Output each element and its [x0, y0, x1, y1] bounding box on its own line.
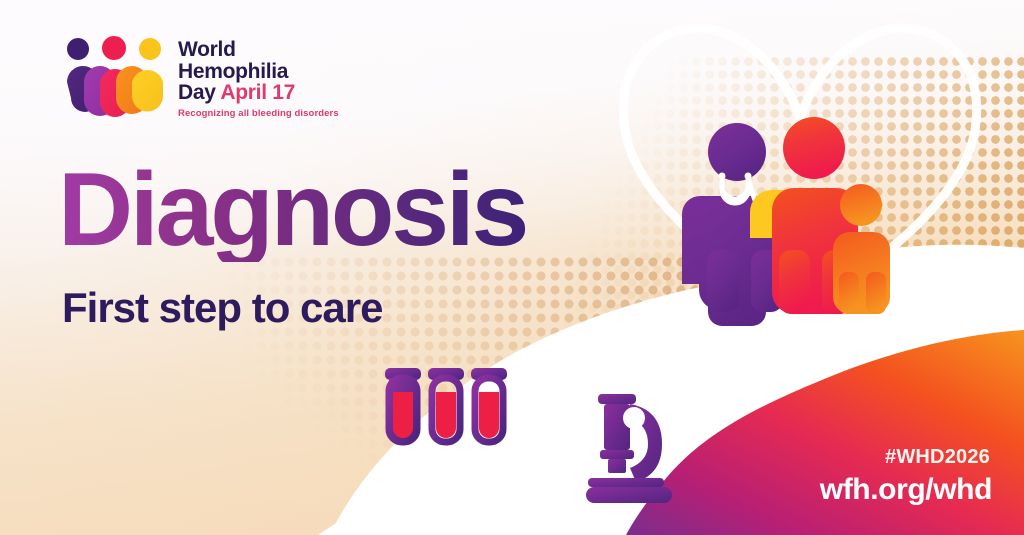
website-url[interactable]: wfh.org/whd — [820, 473, 992, 507]
whd-poster: World Hemophilia Day April 17 Recognizin… — [0, 0, 1024, 535]
hashtag-label: #WHD2026 — [885, 446, 990, 469]
logo-day-word: Day — [178, 81, 216, 104]
wfh-logo[interactable]: World Hemophilia Day April 17 Recognizin… — [62, 36, 339, 122]
logo-date: April 17 — [220, 81, 295, 104]
logo-line-world: World — [178, 39, 339, 61]
page-subtitle: First step to care — [62, 284, 382, 332]
logo-tagline: Recognizing all bleeding disorders — [178, 108, 339, 119]
wfh-people-logo-icon — [62, 36, 166, 122]
child-patient-figure — [833, 184, 890, 314]
logo-wordmark: World Hemophilia Day April 17 Recognizin… — [178, 36, 339, 119]
logo-line-hemophilia: Hemophilia — [178, 61, 339, 83]
page-title: Diagnosis — [58, 158, 526, 262]
blood-test-tubes — [385, 368, 507, 442]
logo-line-day-date: Day April 17 — [178, 82, 339, 104]
